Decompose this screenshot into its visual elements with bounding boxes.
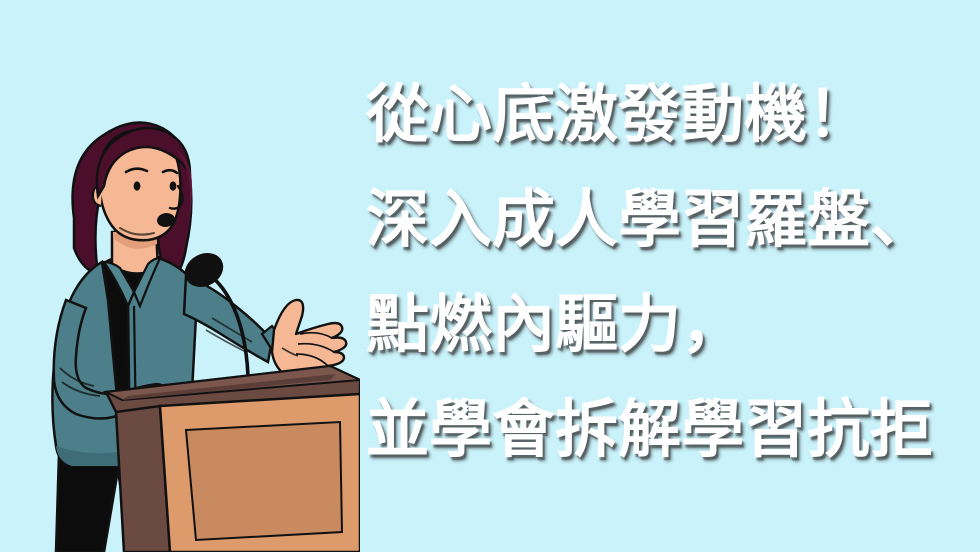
headline-line-3: 點燃內驅力，	[366, 272, 966, 377]
headline-line-4: 並學會拆解學習抗拒	[366, 377, 966, 482]
speaker-illustration-svg	[0, 0, 360, 552]
slide-canvas: 從心底激發動機！ 深入成人學習羅盤、 點燃內驅力， 並學會拆解學習抗拒	[0, 0, 980, 552]
podium	[106, 366, 360, 552]
speaker-illustration	[0, 0, 360, 552]
headline-line-2: 深入成人學習羅盤、	[366, 167, 966, 272]
headline-line-1: 從心底激發動機！	[366, 62, 966, 167]
headline-block: 從心底激發動機！ 深入成人學習羅盤、 點燃內驅力， 並學會拆解學習抗拒	[366, 62, 966, 482]
